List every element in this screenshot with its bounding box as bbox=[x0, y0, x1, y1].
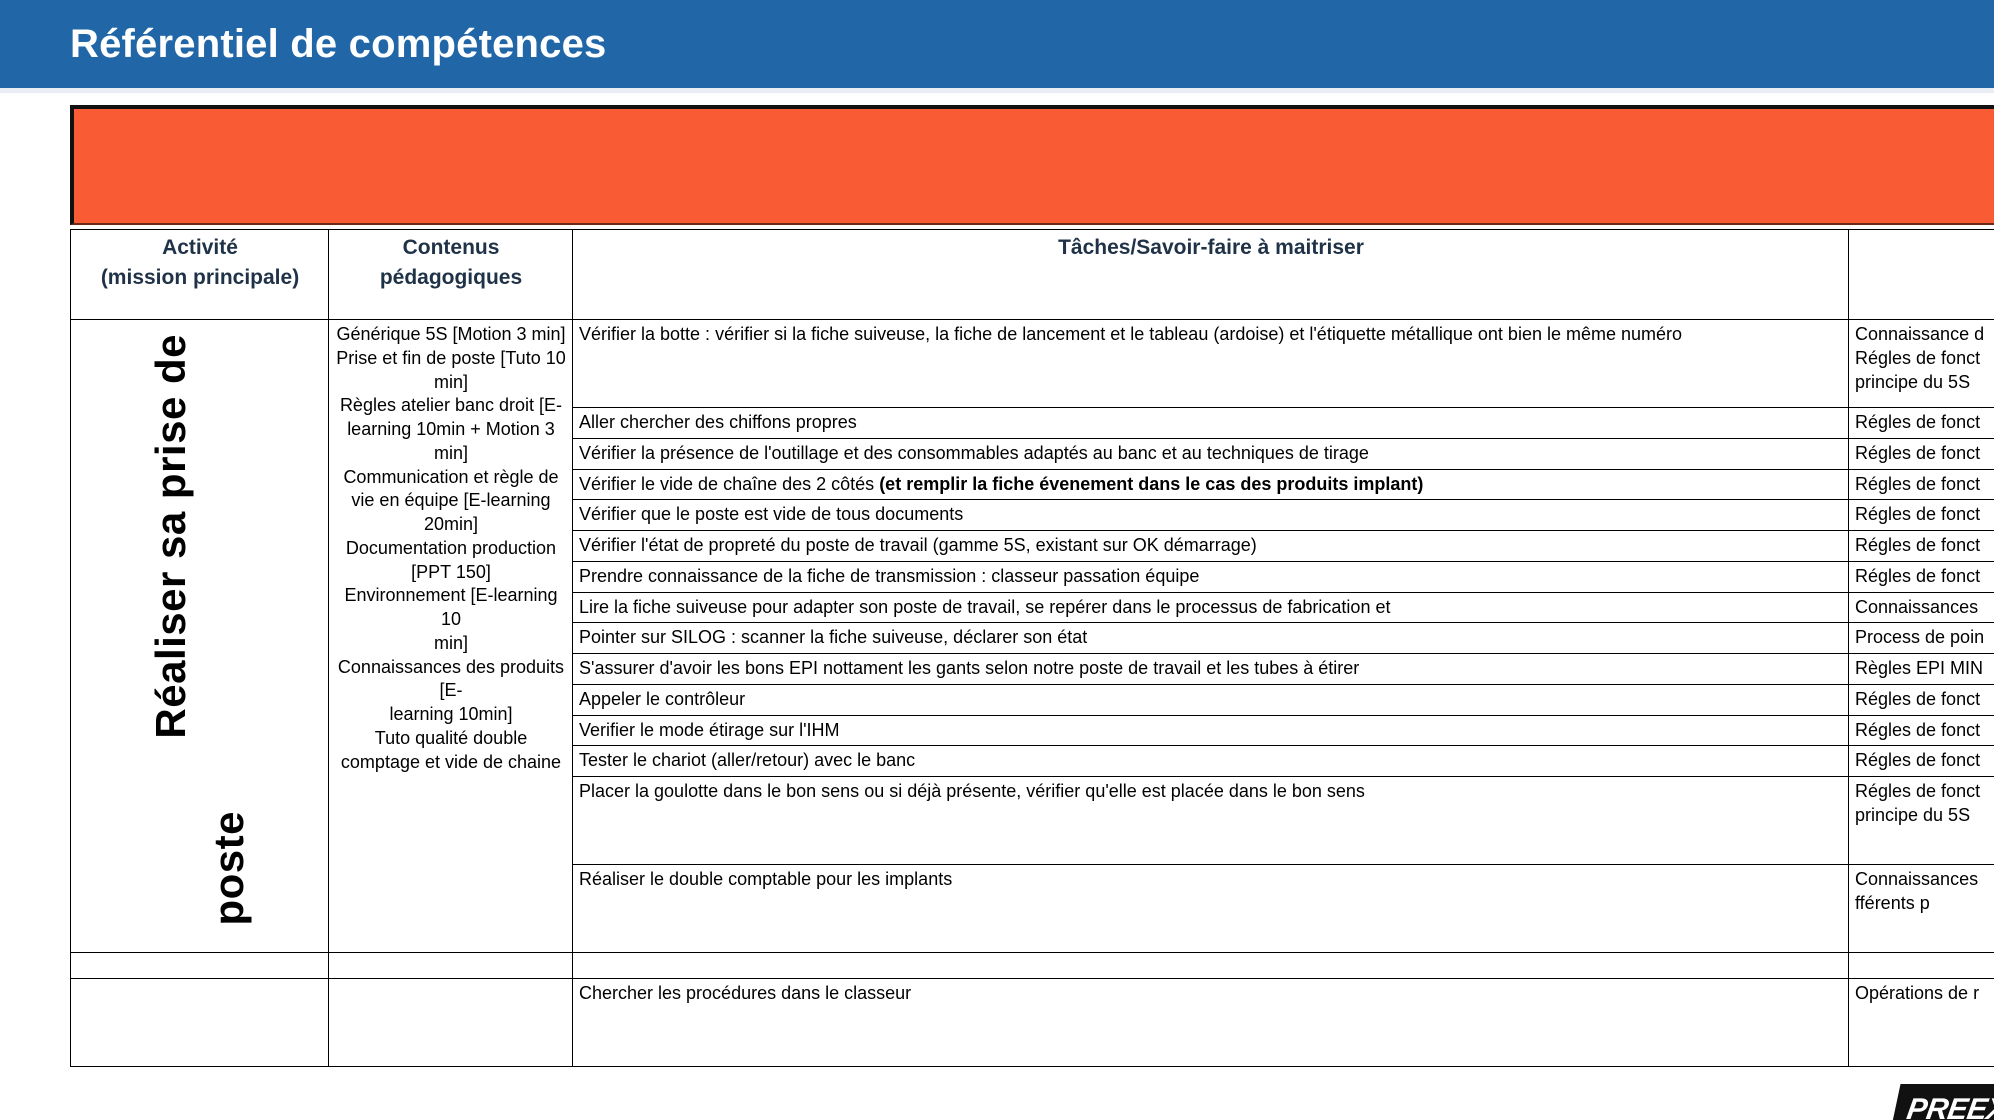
task-cell: Pointer sur SILOG : scanner la fiche sui… bbox=[573, 623, 1849, 654]
pedagogical-contents-cell: Générique 5S [Motion 3 min]Prise et fin … bbox=[329, 320, 573, 953]
knowledge-line: Connaissances bbox=[1855, 868, 1994, 892]
knowledge-line: Process de poin bbox=[1855, 626, 1994, 650]
pedagogical-line: learning 10min + Motion 3 bbox=[335, 418, 567, 442]
pedagogical-line: comptage et vide de chaine bbox=[335, 751, 567, 775]
pedagogical-line: 20min] bbox=[335, 513, 567, 537]
knowledge-line: Régles de fonct bbox=[1855, 749, 1994, 773]
pedagogical-line: Règles atelier banc droit [E- bbox=[335, 394, 567, 418]
pedagogical-line: min] bbox=[335, 442, 567, 466]
pedagogical-line: vie en équipe [E-learning bbox=[335, 489, 567, 513]
knowledge-line: Connaissances bbox=[1855, 596, 1994, 620]
knowledge-line: Régles de fonct bbox=[1855, 347, 1994, 371]
knowledge-line: Régles de fonct bbox=[1855, 719, 1994, 743]
knowledge-cell: Régles de fonct bbox=[1849, 438, 1994, 469]
task-cell: Prendre connaissance de la fiche de tran… bbox=[573, 561, 1849, 592]
pedagogical-line: Tuto qualité double bbox=[335, 727, 567, 751]
pedagogical-line: learning 10min] bbox=[335, 703, 567, 727]
knowledge-cell: Connaissance dRégles de fonctprincipe du… bbox=[1849, 320, 1994, 408]
knowledge-line: fférents p bbox=[1855, 892, 1994, 916]
activity-label-line-1: Réaliser sa prise de bbox=[143, 334, 198, 739]
task-cell: Appeler le contrôleur bbox=[573, 684, 1849, 715]
referentiel-banner: RÉFÉRENTIEL (opérateur : bbox=[70, 105, 1994, 225]
separator-cell-task bbox=[573, 953, 1849, 979]
task-text-plain: Vérifier le vide de chaîne des 2 côtés bbox=[579, 474, 879, 494]
task-cell: Vérifier la présence de l'outillage et d… bbox=[573, 438, 1849, 469]
task-cell: Verifier le mode étirage sur l'IHM bbox=[573, 715, 1849, 746]
pedagogical-line: Environnement [E-learning 10 bbox=[335, 584, 567, 632]
knowledge-cell: Régles de fonct bbox=[1849, 500, 1994, 531]
task-text-plain: Lire la fiche suiveuse pour adapter son … bbox=[579, 597, 1390, 617]
pedagogical-line: Connaissances des produits [E- bbox=[335, 656, 567, 704]
table-header-row: Activité (mission principale) Contenus p… bbox=[71, 230, 1994, 320]
knowledge-cell: Régles de fonct bbox=[1849, 408, 1994, 439]
task-text-plain: Vérifier la botte : vérifier si la fiche… bbox=[579, 324, 1682, 344]
task-text-plain: Réaliser le double comptable pour les im… bbox=[579, 869, 952, 889]
separator-cell-knowledge bbox=[1849, 953, 1994, 979]
knowledge-line: Règles EPI MIN bbox=[1855, 657, 1994, 681]
knowledge-cell: Régles de fonctprincipe du 5S bbox=[1849, 777, 1994, 865]
column-header-activity: Activité (mission principale) bbox=[71, 230, 329, 320]
knowledge-line: Régles de fonct bbox=[1855, 442, 1994, 466]
table-row: Réaliser sa prise deposteGénérique 5S [M… bbox=[71, 320, 1994, 408]
knowledge-cell: Régles de fonct bbox=[1849, 469, 1994, 500]
knowledge-cell: Régles de fonct bbox=[1849, 715, 1994, 746]
task-cell: Vérifier l'état de propreté du poste de … bbox=[573, 531, 1849, 562]
knowledge-cell: Process de poin bbox=[1849, 623, 1994, 654]
column-header-pedagogical-line1: Contenus bbox=[335, 233, 567, 263]
pedagogical-line: Générique 5S [Motion 3 min] bbox=[335, 323, 567, 347]
knowledge-line: Régles de fonct bbox=[1855, 534, 1994, 558]
pedagogical-contents-cell-group-2 bbox=[329, 979, 573, 1067]
column-header-pedagogical-line2: pédagogiques bbox=[335, 263, 567, 293]
pedagogical-line: min] bbox=[335, 632, 567, 656]
task-text-plain: S'assurer d'avoir les bons EPI nottament… bbox=[579, 658, 1359, 678]
task-text-plain: Verifier le mode étirage sur l'IHM bbox=[579, 720, 840, 740]
task-cell: S'assurer d'avoir les bons EPI nottament… bbox=[573, 654, 1849, 685]
pedagogical-line: Prise et fin de poste [Tuto 10 bbox=[335, 347, 567, 371]
task-text-plain: Prendre connaissance de la fiche de tran… bbox=[579, 566, 1199, 586]
knowledge-line: Opérations de r bbox=[1855, 982, 1994, 1006]
table-row: Chercher les procédures dans le classeur… bbox=[71, 979, 1994, 1067]
task-cell: Vérifier la botte : vérifier si la fiche… bbox=[573, 320, 1849, 408]
task-cell: Placer la goulotte dans le bon sens ou s… bbox=[573, 777, 1849, 865]
knowledge-cell: Régles de fonct bbox=[1849, 531, 1994, 562]
knowledge-line: principe du 5S bbox=[1855, 804, 1994, 828]
task-text-plain: Vérifier l'état de propreté du poste de … bbox=[579, 535, 1257, 555]
activity-cell-group-2 bbox=[71, 979, 329, 1067]
task-cell: Aller chercher des chiffons propres bbox=[573, 408, 1849, 439]
knowledge-cell: Régles de fonct bbox=[1849, 684, 1994, 715]
task-cell: Vérifier le vide de chaîne des 2 côtés (… bbox=[573, 469, 1849, 500]
column-header-tasks: Tâches/Savoir-faire à maitriser bbox=[573, 230, 1849, 320]
knowledge-cell: Opérations de r bbox=[1849, 979, 1994, 1067]
column-header-knowledge bbox=[1849, 230, 1994, 320]
task-cell: Réaliser le double comptable pour les im… bbox=[573, 865, 1849, 953]
task-text-plain: Aller chercher des chiffons propres bbox=[579, 412, 857, 432]
activity-label-line-2: poste bbox=[201, 811, 256, 926]
knowledge-line: Connaissance d bbox=[1855, 323, 1994, 347]
task-text-emphasis: (et remplir la fiche évenement dans le c… bbox=[879, 474, 1423, 494]
task-text-plain: Appeler le contrôleur bbox=[579, 689, 745, 709]
activity-cell-group-1: Réaliser sa prise deposte bbox=[71, 320, 329, 953]
task-cell: Lire la fiche suiveuse pour adapter son … bbox=[573, 592, 1849, 623]
knowledge-cell: Règles EPI MIN bbox=[1849, 654, 1994, 685]
task-text-plain: Vérifier la présence de l'outillage et d… bbox=[579, 443, 1369, 463]
knowledge-line: Régles de fonct bbox=[1855, 503, 1994, 527]
preexi-logo-text: PREEXI bbox=[1905, 1093, 1994, 1120]
pedagogical-line: min] bbox=[335, 371, 567, 395]
knowledge-cell: Connaissances bbox=[1849, 592, 1994, 623]
task-cell: Tester le chariot (aller/retour) avec le… bbox=[573, 746, 1849, 777]
task-text-plain: Placer la goulotte dans le bon sens ou s… bbox=[579, 781, 1365, 801]
task-cell: Chercher les procédures dans le classeur bbox=[573, 979, 1849, 1067]
knowledge-line: Régles de fonct bbox=[1855, 411, 1994, 435]
knowledge-cell: Régles de fonct bbox=[1849, 746, 1994, 777]
knowledge-line: Régles de fonct bbox=[1855, 780, 1994, 804]
group-separator-row bbox=[71, 953, 1994, 979]
knowledge-line: principe du 5S bbox=[1855, 371, 1994, 395]
pedagogical-line: Communication et règle de bbox=[335, 466, 567, 490]
worksheet: RÉFÉRENTIEL (opérateur : Activité (missi… bbox=[70, 100, 1994, 1120]
task-text-plain: Pointer sur SILOG : scanner la fiche sui… bbox=[579, 627, 1087, 647]
knowledge-line: Régles de fonct bbox=[1855, 565, 1994, 589]
knowledge-line: Régles de fonct bbox=[1855, 688, 1994, 712]
page-title: Référentiel de compétences bbox=[70, 22, 607, 67]
page-title-banner: Référentiel de compétences bbox=[0, 0, 1994, 88]
column-header-activity-line1: Activité bbox=[77, 233, 323, 263]
task-cell: Vérifier que le poste est vide de tous d… bbox=[573, 500, 1849, 531]
task-text-plain: Chercher les procédures dans le classeur bbox=[579, 983, 911, 1003]
column-header-activity-line2: (mission principale) bbox=[77, 263, 323, 293]
competency-table: Activité (mission principale) Contenus p… bbox=[70, 229, 1994, 1067]
task-text-plain: Vérifier que le poste est vide de tous d… bbox=[579, 504, 963, 524]
knowledge-line: Régles de fonct bbox=[1855, 473, 1994, 497]
banner-underline bbox=[0, 88, 1994, 93]
table-body: Réaliser sa prise deposteGénérique 5S [M… bbox=[71, 320, 1994, 1067]
separator-cell-activity bbox=[71, 953, 329, 979]
preexi-logo: PREEXI bbox=[1892, 1086, 1994, 1120]
separator-cell-pedagogical bbox=[329, 953, 573, 979]
column-header-pedagogical: Contenus pédagogiques bbox=[329, 230, 573, 320]
column-header-tasks-label: Tâches/Savoir-faire à maitriser bbox=[579, 233, 1843, 263]
pedagogical-line: [PPT 150] bbox=[335, 561, 567, 585]
pedagogical-line: Documentation production bbox=[335, 537, 567, 561]
knowledge-cell: Connaissances fférents p bbox=[1849, 865, 1994, 953]
knowledge-cell: Régles de fonct bbox=[1849, 561, 1994, 592]
task-text-plain: Tester le chariot (aller/retour) avec le… bbox=[579, 750, 915, 770]
